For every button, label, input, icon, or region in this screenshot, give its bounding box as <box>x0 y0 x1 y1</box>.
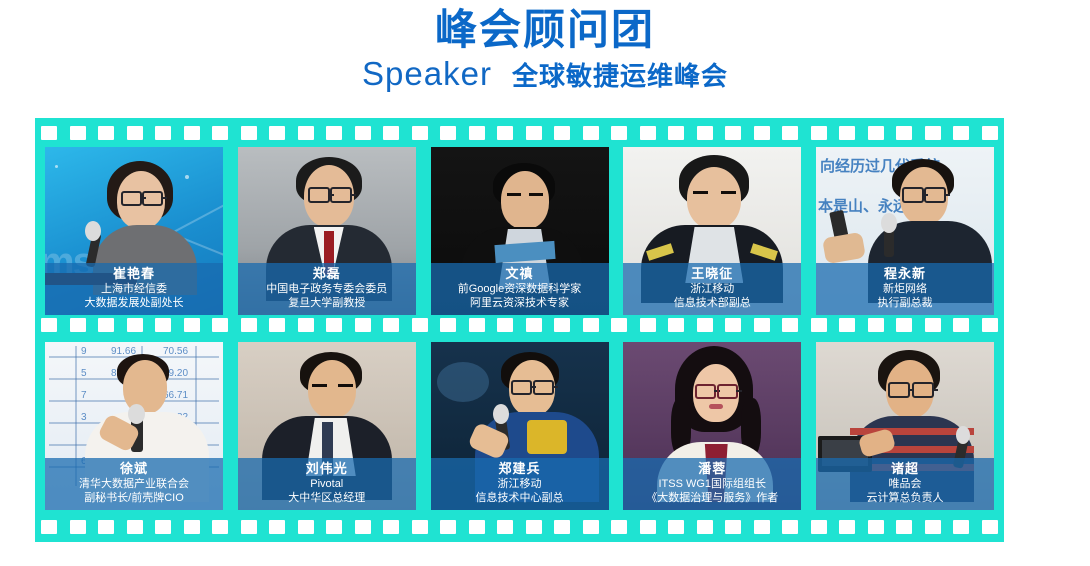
speaker-card[interactable]: 9 91.66 70.56 5 87.5 79.20 7 66.71 3 64.… <box>45 342 223 510</box>
speaker-card[interactable]: 诸超 唯品会 云计算总负责人 <box>816 342 994 510</box>
speaker-caption: 潘蓉 ITSS WG1国际组组长 《大数据治理与服务》作者 <box>623 458 801 510</box>
film-sprocket-hole <box>383 318 399 332</box>
speaker-org: 上海市经信委 <box>47 282 221 296</box>
speaker-caption: 郑建兵 浙江移动 信息技术中心副总 <box>431 458 609 510</box>
film-sprocket-hole <box>469 520 485 534</box>
film-sprocket-hole <box>298 318 314 332</box>
film-sprocket-hole <box>41 318 57 332</box>
speaker-role: 大中华区总经理 <box>240 491 414 505</box>
film-sprocket-hole <box>298 126 314 140</box>
film-sprocket-hole <box>953 520 969 534</box>
film-sprocket-hole <box>925 126 941 140</box>
film-sprocket-hole <box>212 126 228 140</box>
speaker-row-bottom: 9 91.66 70.56 5 87.5 79.20 7 66.71 3 64.… <box>45 342 994 510</box>
speaker-org: ITSS WG1国际组组长 <box>625 477 799 491</box>
film-sprocket-hole <box>782 318 798 332</box>
speaker-name: 徐斌 <box>47 461 221 477</box>
speaker-name: 潘蓉 <box>625 461 799 477</box>
speaker-role: 复旦大学副教授 <box>240 296 414 310</box>
film-sprocket-hole <box>782 126 798 140</box>
speaker-caption: 王晓征 浙江移动 信息技术部副总 <box>623 263 801 315</box>
film-sprocket-hole <box>155 520 171 534</box>
film-sprocket-hole <box>41 520 57 534</box>
film-sprocket-hole <box>98 520 114 534</box>
film-sprocket-hole <box>754 318 770 332</box>
film-sprocket-hole <box>896 126 912 140</box>
film-sprocket-hole <box>526 126 542 140</box>
speaker-name: 刘伟光 <box>240 461 414 477</box>
speaker-card[interactable]: 王晓征 浙江移动 信息技术部副总 <box>623 147 801 315</box>
speaker-row-top: ms 崔艳春 上海市经信委 大数据发展处副处长 <box>45 147 994 315</box>
film-sprocket-hole <box>839 520 855 534</box>
speaker-name: 诸超 <box>818 461 992 477</box>
speaker-name: 郑磊 <box>240 266 414 282</box>
film-sprocket-hole <box>355 318 371 332</box>
speaker-card[interactable]: 郑磊 中国电子政务专委会委员 复旦大学副教授 <box>238 147 416 315</box>
film-sprocket-hole <box>583 520 599 534</box>
speaker-caption: 文禛 前Google资深数据科学家 阿里云资深技术专家 <box>431 263 609 315</box>
film-sprocket-hole <box>184 520 200 534</box>
sprocket-row-bottom <box>35 519 1004 535</box>
speaker-role: 阿里云资深技术专家 <box>433 296 607 310</box>
film-sprocket-hole <box>953 126 969 140</box>
film-sprocket-hole <box>241 318 257 332</box>
film-sprocket-hole <box>839 318 855 332</box>
film-sprocket-hole <box>98 126 114 140</box>
film-sprocket-hole <box>70 126 86 140</box>
film-sprocket-hole <box>212 520 228 534</box>
speaker-org: 新炬网络 <box>818 282 992 296</box>
film-sprocket-hole <box>355 520 371 534</box>
film-sprocket-hole <box>241 126 257 140</box>
film-sprocket-hole <box>184 126 200 140</box>
film-sprocket-hole <box>383 520 399 534</box>
film-sprocket-hole <box>412 318 428 332</box>
film-sprocket-hole <box>953 318 969 332</box>
speaker-card[interactable]: 郑建兵 浙江移动 信息技术中心副总 <box>431 342 609 510</box>
film-sprocket-hole <box>70 318 86 332</box>
film-sprocket-hole <box>440 318 456 332</box>
film-sprocket-hole <box>155 318 171 332</box>
film-sprocket-hole <box>355 126 371 140</box>
film-sprocket-hole <box>497 318 513 332</box>
film-sprocket-hole <box>497 520 513 534</box>
speaker-name: 王晓征 <box>625 266 799 282</box>
film-sprocket-hole <box>326 318 342 332</box>
film-sprocket-hole <box>412 520 428 534</box>
film-sprocket-hole <box>269 520 285 534</box>
film-sprocket-hole <box>896 520 912 534</box>
film-sprocket-hole <box>640 126 656 140</box>
film-sprocket-hole <box>127 126 143 140</box>
speaker-org: 唯品会 <box>818 477 992 491</box>
film-sprocket-hole <box>811 520 827 534</box>
film-sprocket-hole <box>925 318 941 332</box>
speaker-caption: 诸超 唯品会 云计算总负责人 <box>816 458 994 510</box>
film-sprocket-hole <box>127 318 143 332</box>
page-subtitle: Speaker 全球敏捷运维峰会 <box>0 54 1090 96</box>
film-sprocket-hole <box>583 126 599 140</box>
film-sprocket-hole <box>184 318 200 332</box>
speaker-name: 程永新 <box>818 266 992 282</box>
film-sprocket-hole <box>611 520 627 534</box>
film-sprocket-hole <box>868 520 884 534</box>
film-sprocket-hole <box>782 520 798 534</box>
speaker-role: 执行副总裁 <box>818 296 992 310</box>
speaker-card[interactable]: ms 崔艳春 上海市经信委 大数据发展处副处长 <box>45 147 223 315</box>
film-sprocket-hole <box>925 520 941 534</box>
sprocket-row-middle <box>35 317 1004 333</box>
film-sprocket-hole <box>383 126 399 140</box>
speaker-org: 中国电子政务专委会委员 <box>240 282 414 296</box>
film-sprocket-hole <box>469 318 485 332</box>
film-sprocket-hole <box>640 520 656 534</box>
speaker-name: 郑建兵 <box>433 461 607 477</box>
film-sprocket-hole <box>896 318 912 332</box>
film-sprocket-hole <box>811 126 827 140</box>
film-sprocket-hole <box>70 520 86 534</box>
speaker-role: 信息技术部副总 <box>625 296 799 310</box>
film-sprocket-hole <box>668 318 684 332</box>
speaker-role: 《大数据治理与服务》作者 <box>625 491 799 505</box>
film-sprocket-hole <box>326 126 342 140</box>
speaker-name: 文禛 <box>433 266 607 282</box>
film-sprocket-hole <box>982 318 998 332</box>
film-sprocket-hole <box>155 126 171 140</box>
speaker-caption: 崔艳春 上海市经信委 大数据发展处副处长 <box>45 263 223 315</box>
film-sprocket-hole <box>440 126 456 140</box>
film-sprocket-hole <box>554 520 570 534</box>
speaker-org: Pivotal <box>240 477 414 491</box>
page-header: 峰会顾问团 Speaker 全球敏捷运维峰会 <box>0 0 1090 96</box>
page-title: 峰会顾问团 <box>0 4 1090 56</box>
film-sprocket-hole <box>839 126 855 140</box>
speaker-caption: 徐斌 清华大数据产业联合会 副秘书长/前壳牌CIO <box>45 458 223 510</box>
film-sprocket-hole <box>754 126 770 140</box>
film-sprocket-hole <box>640 318 656 332</box>
film-sprocket-hole <box>554 126 570 140</box>
film-sprocket-hole <box>497 126 513 140</box>
film-sprocket-hole <box>725 126 741 140</box>
film-sprocket-hole <box>868 318 884 332</box>
film-sprocket-hole <box>412 126 428 140</box>
subtitle-chinese: 全球敏捷运维峰会 <box>512 56 728 96</box>
film-sprocket-hole <box>811 318 827 332</box>
subtitle-english: Speaker <box>362 54 492 94</box>
filmstrip-container: ms 崔艳春 上海市经信委 大数据发展处副处长 <box>35 118 1004 542</box>
speaker-card[interactable]: 向经历过几代系统 本是山、永远 程永新 新炬网络 执行副总裁 <box>816 147 994 315</box>
film-sprocket-hole <box>611 318 627 332</box>
film-sprocket-hole <box>526 520 542 534</box>
film-sprocket-hole <box>554 318 570 332</box>
film-sprocket-hole <box>269 126 285 140</box>
film-sprocket-hole <box>298 520 314 534</box>
speaker-card[interactable]: 文禛 前Google资深数据科学家 阿里云资深技术专家 <box>431 147 609 315</box>
speaker-org: 浙江移动 <box>625 282 799 296</box>
film-sprocket-hole <box>668 126 684 140</box>
film-sprocket-hole <box>98 318 114 332</box>
film-sprocket-hole <box>326 520 342 534</box>
film-sprocket-hole <box>469 126 485 140</box>
speaker-role: 副秘书长/前壳牌CIO <box>47 491 221 505</box>
film-sprocket-hole <box>697 520 713 534</box>
speaker-role: 大数据发展处副处长 <box>47 296 221 310</box>
film-sprocket-hole <box>697 318 713 332</box>
film-sprocket-hole <box>668 520 684 534</box>
sprocket-row-top <box>35 125 1004 141</box>
speaker-caption: 郑磊 中国电子政务专委会委员 复旦大学副教授 <box>238 263 416 315</box>
film-sprocket-hole <box>982 520 998 534</box>
speaker-org: 浙江移动 <box>433 477 607 491</box>
film-sprocket-hole <box>41 126 57 140</box>
speaker-caption: 程永新 新炬网络 执行副总裁 <box>816 263 994 315</box>
speaker-org: 前Google资深数据科学家 <box>433 282 607 296</box>
speaker-org: 清华大数据产业联合会 <box>47 477 221 491</box>
film-sprocket-hole <box>868 126 884 140</box>
film-sprocket-hole <box>697 126 713 140</box>
film-sprocket-hole <box>982 126 998 140</box>
film-sprocket-hole <box>526 318 542 332</box>
speaker-role: 云计算总负责人 <box>818 491 992 505</box>
speaker-card[interactable]: 潘蓉 ITSS WG1国际组组长 《大数据治理与服务》作者 <box>623 342 801 510</box>
film-sprocket-hole <box>440 520 456 534</box>
film-sprocket-hole <box>212 318 228 332</box>
film-sprocket-hole <box>127 520 143 534</box>
speaker-card[interactable]: 刘伟光 Pivotal 大中华区总经理 <box>238 342 416 510</box>
speaker-caption: 刘伟光 Pivotal 大中华区总经理 <box>238 458 416 510</box>
film-sprocket-hole <box>583 318 599 332</box>
film-sprocket-hole <box>754 520 770 534</box>
film-sprocket-hole <box>241 520 257 534</box>
film-sprocket-hole <box>611 126 627 140</box>
speaker-name: 崔艳春 <box>47 266 221 282</box>
film-sprocket-hole <box>269 318 285 332</box>
film-sprocket-hole <box>725 520 741 534</box>
film-sprocket-hole <box>725 318 741 332</box>
speaker-role: 信息技术中心副总 <box>433 491 607 505</box>
